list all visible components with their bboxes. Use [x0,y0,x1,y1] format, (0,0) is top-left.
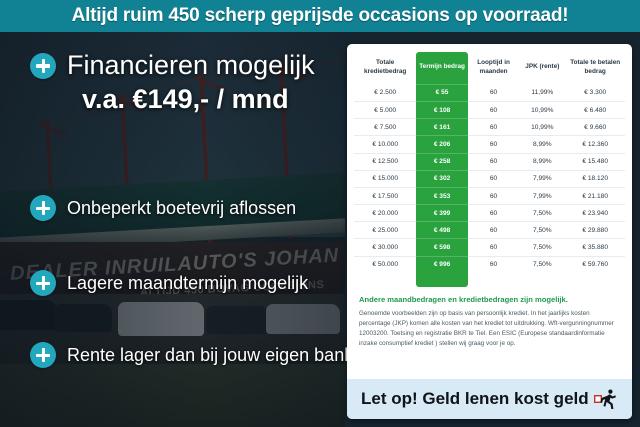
cell-total: € 9.660 [565,119,625,136]
cell-term-amount: € 302 [416,170,467,187]
promo-bullet-label: Lagere maandtermijn mogelijk [67,273,308,294]
cell-months: 60 [468,153,519,170]
cell-total: € 12.360 [565,136,625,153]
cell-months: 60 [468,222,519,239]
cell-total: € 35.880 [565,239,625,256]
promo-bullet-2: Lagere maandtermijn mogelijk [30,270,308,296]
cell-total: € 21.180 [565,187,625,204]
cell-months: 60 [468,170,519,187]
promo-bullet-label: Onbeperkt boetevrij aflossen [67,198,296,219]
cell-total: € 3.300 [565,84,625,101]
cell-jkp: 8,99% [519,153,565,170]
cell-jkp: 8,99% [519,136,565,153]
cell-term-amount: € 108 [416,101,467,118]
cell-total: € 6.480 [565,101,625,118]
cell-total: € 29.880 [565,222,625,239]
cell-term-amount: € 598 [416,239,467,256]
cell-credit-amount: € 20.000 [354,205,416,222]
cell-jkp: 11,99% [519,84,565,101]
header-total-credit: Totale kredietbedrag [354,52,416,84]
promo-headline-line2: v.a. €149,- / mnd [82,84,315,115]
cell-term-amount: € 996 [416,256,467,273]
header-duration: Looptijd in maanden [468,52,519,84]
cell-credit-amount: € 30.000 [354,239,416,256]
cell-months: 60 [468,239,519,256]
promo-bullet-1: Onbeperkt boetevrij aflossen [30,195,296,221]
cell-months: 60 [468,187,519,204]
cell-credit-amount: € 12.500 [354,153,416,170]
cell-credit-amount: € 7.500 [354,119,416,136]
cell-jkp: 7,50% [519,239,565,256]
cell-months: 60 [468,205,519,222]
cell-credit-amount: € 25.000 [354,222,416,239]
cell-jkp: 10,99% [519,101,565,118]
disclaimer-block: Andere maandbedragen en kredietbedragen … [347,291,632,350]
plus-circle-icon [30,342,56,368]
credit-warning-bar: Let op! Geld lenen kost geld [347,379,632,419]
credit-warning-text: Let op! Geld lenen kost geld [361,389,589,409]
table-row: € 2.500€ 556011,99%€ 3.300 [354,84,625,101]
cell-credit-amount: € 15.000 [354,170,416,187]
disclaimer-title: Andere maandbedragen en kredietbedragen … [359,295,620,305]
banner-headline: Altijd ruim 450 scherp geprijsde occasio… [72,5,569,27]
cell-jkp: 7,50% [519,222,565,239]
cell-months: 60 [468,101,519,118]
cell-months: 60 [468,256,519,273]
financing-card: Totale kredietbedrag Termijn bedrag Loop… [347,44,632,419]
plus-circle-icon [30,195,56,221]
highlight-column-footer [354,273,625,287]
cell-term-amount: € 498 [416,222,467,239]
cell-credit-amount: € 17.500 [354,187,416,204]
cell-months: 60 [468,84,519,101]
promo-bullet-label: Rente lager dan bij jouw eigen bank [67,345,353,366]
table-row: € 7.500€ 1616010,99%€ 9.660 [354,119,625,136]
plus-circle-icon [30,53,56,79]
table-row: € 25.000€ 498607,50%€ 29.880 [354,222,625,239]
cell-jkp: 7,50% [519,256,565,273]
cell-credit-amount: € 2.500 [354,84,416,101]
table-row: € 30.000€ 598607,50%€ 35.880 [354,239,625,256]
financing-table-body: € 2.500€ 556011,99%€ 3.300 € 5.000€ 1086… [354,84,625,273]
promo-content: Financieren mogelijk v.a. €149,- / mnd O… [0,32,345,427]
cell-credit-amount: € 50.000 [354,256,416,273]
promo-headline-block: Financieren mogelijk v.a. €149,- / mnd [30,50,315,115]
financing-table-wrap: Totale kredietbedrag Termijn bedrag Loop… [347,44,632,291]
header-jkp-interest: JPK (rente) [519,52,565,84]
cell-term-amount: € 161 [416,119,467,136]
cell-total: € 23.940 [565,205,625,222]
promo-bullet-3: Rente lager dan bij jouw eigen bank [30,342,353,368]
table-row: € 10.000€ 206608,99%€ 12.360 [354,136,625,153]
cell-months: 60 [468,136,519,153]
table-row: € 17.500€ 353607,99%€ 21.180 [354,187,625,204]
cell-term-amount: € 353 [416,187,467,204]
table-row: € 15.000€ 302607,99%€ 18.120 [354,170,625,187]
promo-banner: Altijd ruim 450 scherp geprijsde occasio… [0,0,640,32]
highlight-cap [416,273,467,287]
cell-jkp: 7,99% [519,187,565,204]
cell-total: € 59.760 [565,256,625,273]
cell-credit-amount: € 10.000 [354,136,416,153]
plus-circle-icon [30,270,56,296]
table-header-row: Totale kredietbedrag Termijn bedrag Loop… [354,52,625,84]
cell-term-amount: € 399 [416,205,467,222]
table-row: € 50.000€ 996607,50%€ 59.760 [354,256,625,273]
table-row: € 5.000€ 1086010,99%€ 6.480 [354,101,625,118]
table-row: € 20.000€ 399607,50%€ 23.940 [354,205,625,222]
cell-total: € 15.480 [565,153,625,170]
header-total-payable: Totale te betalen bedrag [565,52,625,84]
cell-term-amount: € 55 [416,84,467,101]
cell-term-amount: € 206 [416,136,467,153]
cell-jkp: 7,99% [519,170,565,187]
cell-term-amount: € 258 [416,153,467,170]
cell-jkp: 10,99% [519,119,565,136]
running-man-exit-icon [594,387,618,411]
cell-credit-amount: € 5.000 [354,101,416,118]
header-term-amount: Termijn bedrag [416,52,467,84]
cell-jkp: 7,50% [519,205,565,222]
cell-months: 60 [468,119,519,136]
cell-total: € 18.120 [565,170,625,187]
financing-table: Totale kredietbedrag Termijn bedrag Loop… [354,52,625,273]
promo-headline-line1: Financieren mogelijk [67,50,315,81]
disclaimer-body: Genoemde voorbeelden zijn op basis van p… [359,309,620,350]
table-row: € 12.500€ 258608,99%€ 15.480 [354,153,625,170]
